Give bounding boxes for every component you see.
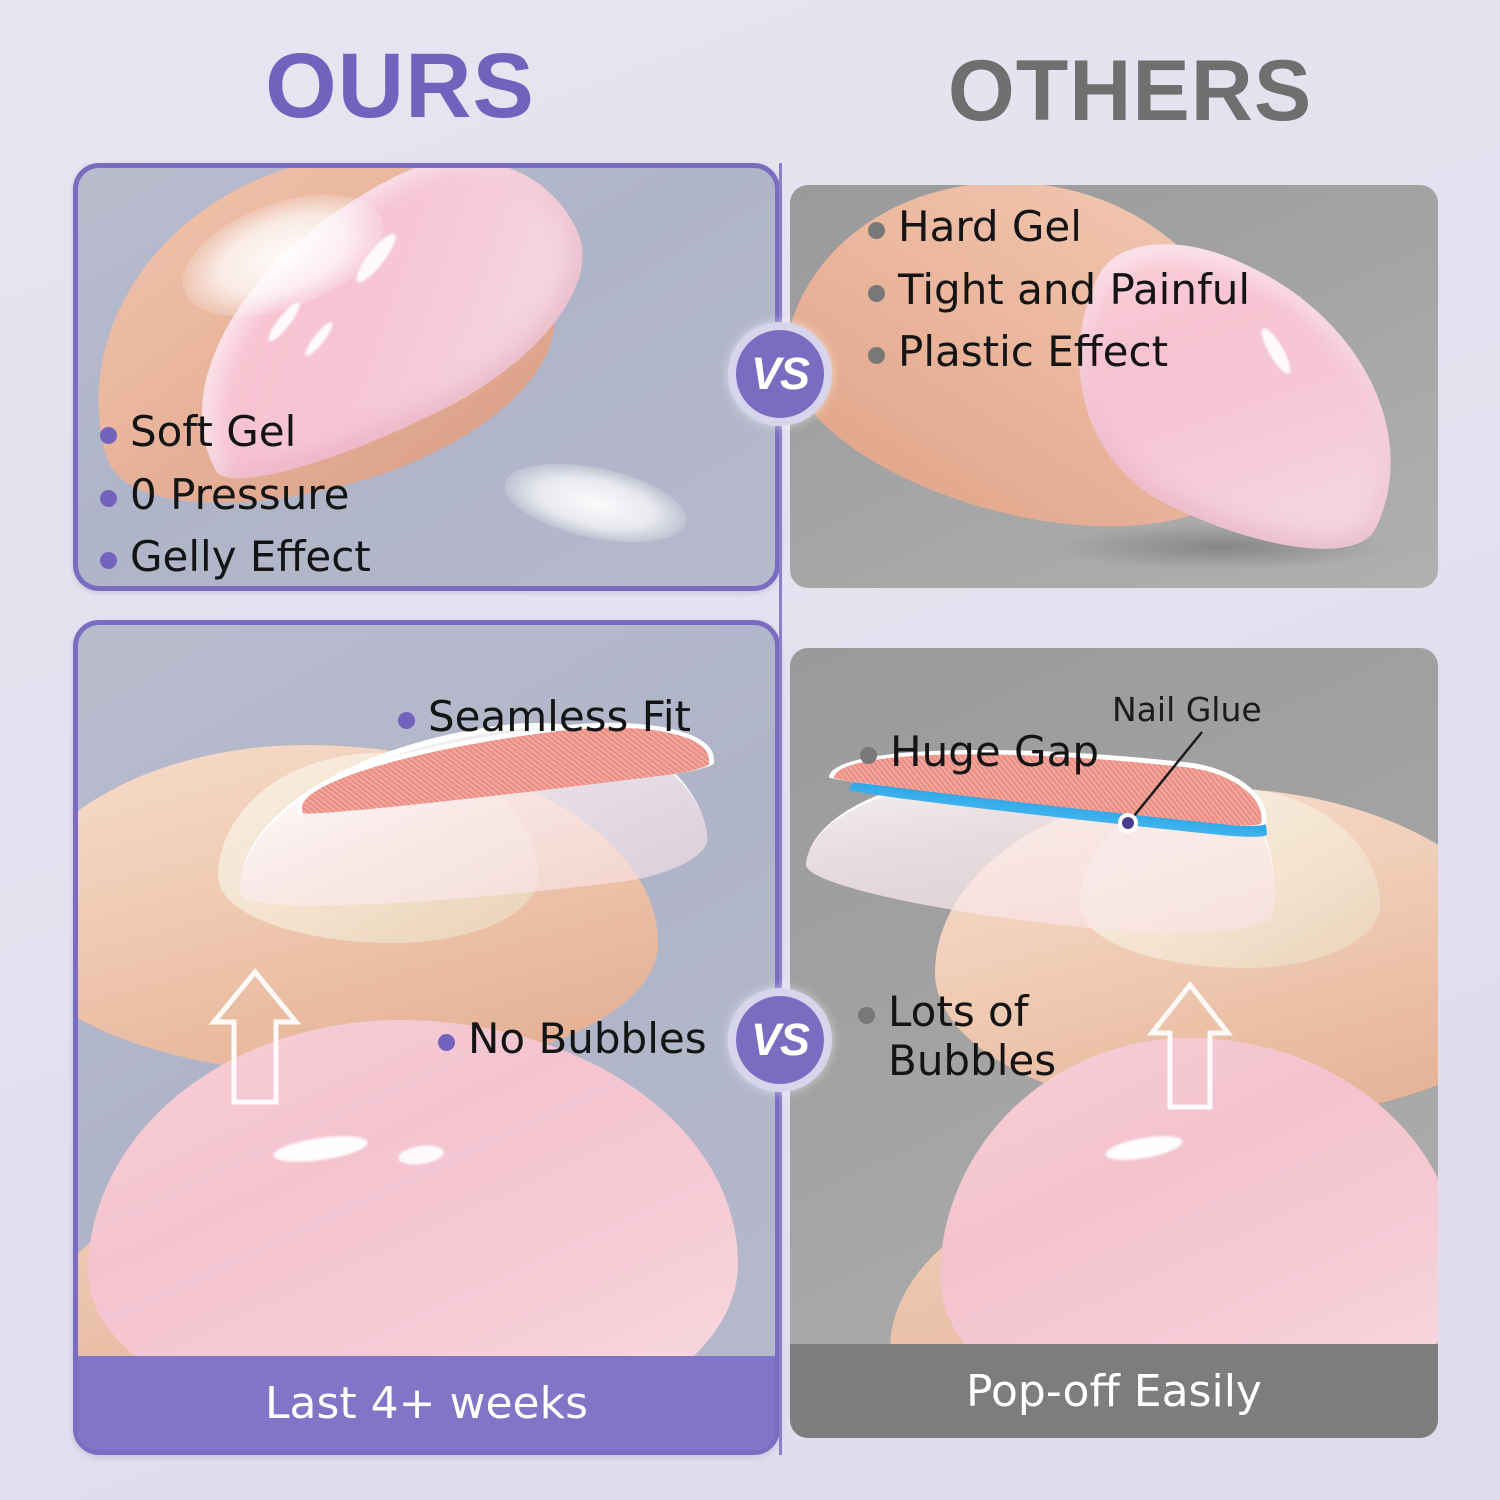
list-item: Lots of Bubbles bbox=[858, 988, 1056, 1085]
bullet-label: No Bubbles bbox=[468, 1015, 707, 1064]
bullet-list-others-top: Hard Gel Tight and Painful Plastic Effec… bbox=[868, 203, 1250, 391]
bullet-list-no-bubbles: No Bubbles bbox=[438, 1015, 707, 1078]
bullet-dot-icon bbox=[100, 490, 117, 507]
bullet-dot-icon bbox=[100, 552, 117, 569]
feather-icon bbox=[498, 450, 694, 557]
upward-arrow-icon bbox=[200, 960, 310, 1110]
bullet-list-lots-of-bubbles: Lots of Bubbles bbox=[858, 988, 1056, 1099]
bullet-dot-icon bbox=[398, 712, 415, 729]
nail-glue-label: Nail Glue bbox=[1112, 690, 1262, 729]
bullet-list-seamless-fit: Seamless Fit bbox=[398, 693, 691, 756]
bullet-list-ours-top: Soft Gel 0 Pressure Gelly Effect bbox=[100, 408, 371, 591]
bullet-dot-icon bbox=[868, 222, 885, 239]
vs-divider-line-top bbox=[779, 163, 782, 328]
upward-arrow-icon bbox=[1140, 975, 1240, 1115]
callout-anchor-point bbox=[1118, 813, 1138, 833]
bullet-label: Lots of Bubbles bbox=[888, 988, 1056, 1085]
list-item: Hard Gel bbox=[868, 203, 1250, 252]
panel-others-bottom: Nail Glue Huge Gap Lots of Bubbles Pop-o… bbox=[790, 648, 1438, 1438]
bullet-dot-icon bbox=[868, 347, 885, 364]
bullet-dot-icon bbox=[438, 1034, 455, 1051]
vs-badge-bottom: VS bbox=[728, 988, 832, 1092]
list-item: No Bubbles bbox=[438, 1015, 707, 1064]
bullet-label: Plastic Effect bbox=[898, 328, 1168, 377]
banner-last-weeks: Last 4+ weeks bbox=[78, 1356, 775, 1450]
bullet-label: 0 Pressure bbox=[130, 471, 349, 520]
list-item: Huge Gap bbox=[860, 728, 1099, 777]
list-item: Gelly Effect bbox=[100, 533, 371, 582]
panel-ours-top: Soft Gel 0 Pressure Gelly Effect bbox=[73, 163, 780, 591]
heading-others: OTHERS bbox=[760, 48, 1500, 134]
vs-badge-top: VS bbox=[728, 322, 832, 426]
list-item: 0 Pressure bbox=[100, 471, 371, 520]
bullet-label: Tight and Painful bbox=[898, 266, 1250, 315]
list-item: Plastic Effect bbox=[868, 328, 1250, 377]
bullet-label: Gelly Effect bbox=[130, 533, 371, 582]
bullet-dot-icon bbox=[100, 427, 117, 444]
bullet-label: Soft Gel bbox=[130, 408, 296, 457]
bullet-label: Hard Gel bbox=[898, 203, 1082, 252]
bullet-label: Huge Gap bbox=[890, 728, 1099, 777]
bullet-label: Seamless Fit bbox=[428, 693, 691, 742]
list-item: Seamless Fit bbox=[398, 693, 691, 742]
callout-leader-line bbox=[1130, 728, 1210, 820]
banner-pop-off: Pop-off Easily bbox=[790, 1344, 1438, 1438]
bullet-dot-icon bbox=[860, 747, 877, 764]
vs-divider-line-bottom bbox=[779, 1090, 782, 1455]
panel-ours-bottom: Seamless Fit No Bubbles Last 4+ weeks bbox=[73, 620, 780, 1455]
panel-others-top: Hard Gel Tight and Painful Plastic Effec… bbox=[790, 185, 1438, 588]
bullet-dot-icon bbox=[868, 285, 885, 302]
list-item: Soft Gel bbox=[100, 408, 371, 457]
comparison-infographic: OURS OTHERS Soft Gel 0 Pressure Gelly Ef… bbox=[0, 0, 1500, 1500]
heading-ours: OURS bbox=[0, 40, 800, 132]
vs-divider-line-middle bbox=[779, 425, 782, 993]
bullet-list-huge-gap: Huge Gap bbox=[860, 728, 1099, 791]
list-item: Tight and Painful bbox=[868, 266, 1250, 315]
bullet-dot-icon bbox=[858, 1007, 875, 1024]
